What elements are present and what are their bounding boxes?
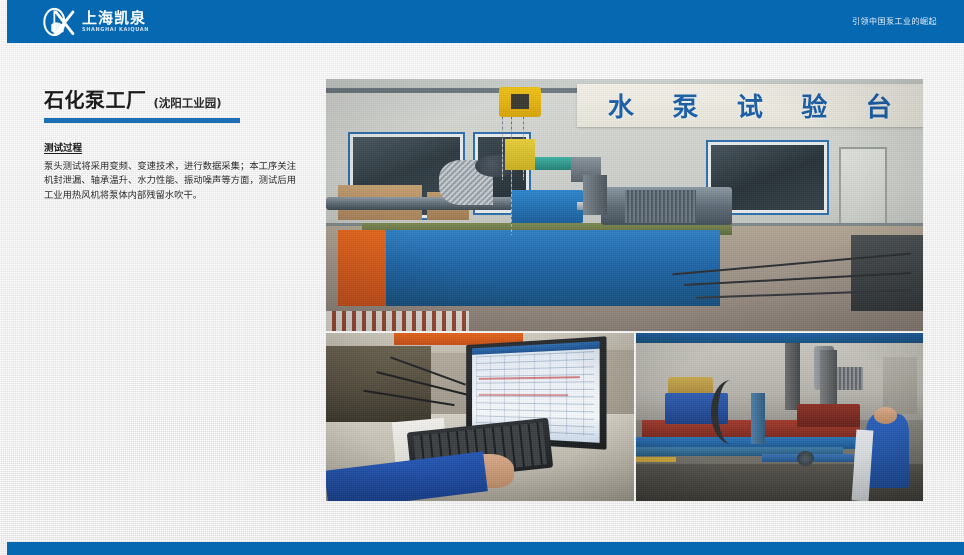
- page-header: 上海凯泉 SHANGHAI KAIQUAN 引领中国泵工业的崛起: [7, 0, 964, 43]
- sign-char: 泵: [672, 87, 698, 124]
- sign-char: 台: [866, 87, 892, 124]
- page-title-subtitle: (沈阳工业园): [154, 95, 222, 111]
- page-title: 石化泵工厂 (沈阳工业园): [44, 84, 306, 113]
- slide-canvas: 上海凯泉 SHANGHAI KAIQUAN 引领中国泵工业的崛起 石化泵工厂 (…: [0, 0, 964, 555]
- header-slogan: 引领中国泵工业的崛起: [852, 0, 937, 43]
- sign-char: 试: [737, 87, 763, 124]
- sign-char: 水: [608, 87, 634, 124]
- photo-pump-skid-testing: [636, 333, 923, 501]
- content-text-column: 石化泵工厂 (沈阳工业园) 测试过程 泵头测试将采用变频、变速技术，进行数据采集…: [44, 84, 306, 203]
- photo-collage: 水 泵 试 验 台: [326, 79, 923, 501]
- section-label-test-process: 测试过程: [44, 140, 82, 154]
- photo-pump-test-bench-hall: 水 泵 试 验 台: [326, 79, 923, 331]
- title-accent-rule: [44, 118, 240, 123]
- body-paragraph: 泵头测试将采用变频、变速技术，进行数据采集；本工序关注机封泄漏、轴承温升、水力性…: [44, 160, 296, 203]
- photo-operator-data-acquisition: [326, 333, 634, 501]
- brand-name-cn: 上海凯泉: [82, 11, 149, 26]
- kaiquan-logo-icon: [42, 7, 76, 37]
- brand-name-en: SHANGHAI KAIQUAN: [82, 28, 149, 33]
- brand-logo-text: 上海凯泉 SHANGHAI KAIQUAN: [82, 11, 149, 33]
- photo-sign-water-pump-test-bench: 水 泵 试 验 台: [589, 87, 911, 125]
- page-title-main: 石化泵工厂: [44, 84, 147, 113]
- sign-char: 验: [801, 87, 827, 124]
- brand-logo[interactable]: 上海凯泉 SHANGHAI KAIQUAN: [42, 6, 149, 38]
- page-footer: [7, 542, 964, 555]
